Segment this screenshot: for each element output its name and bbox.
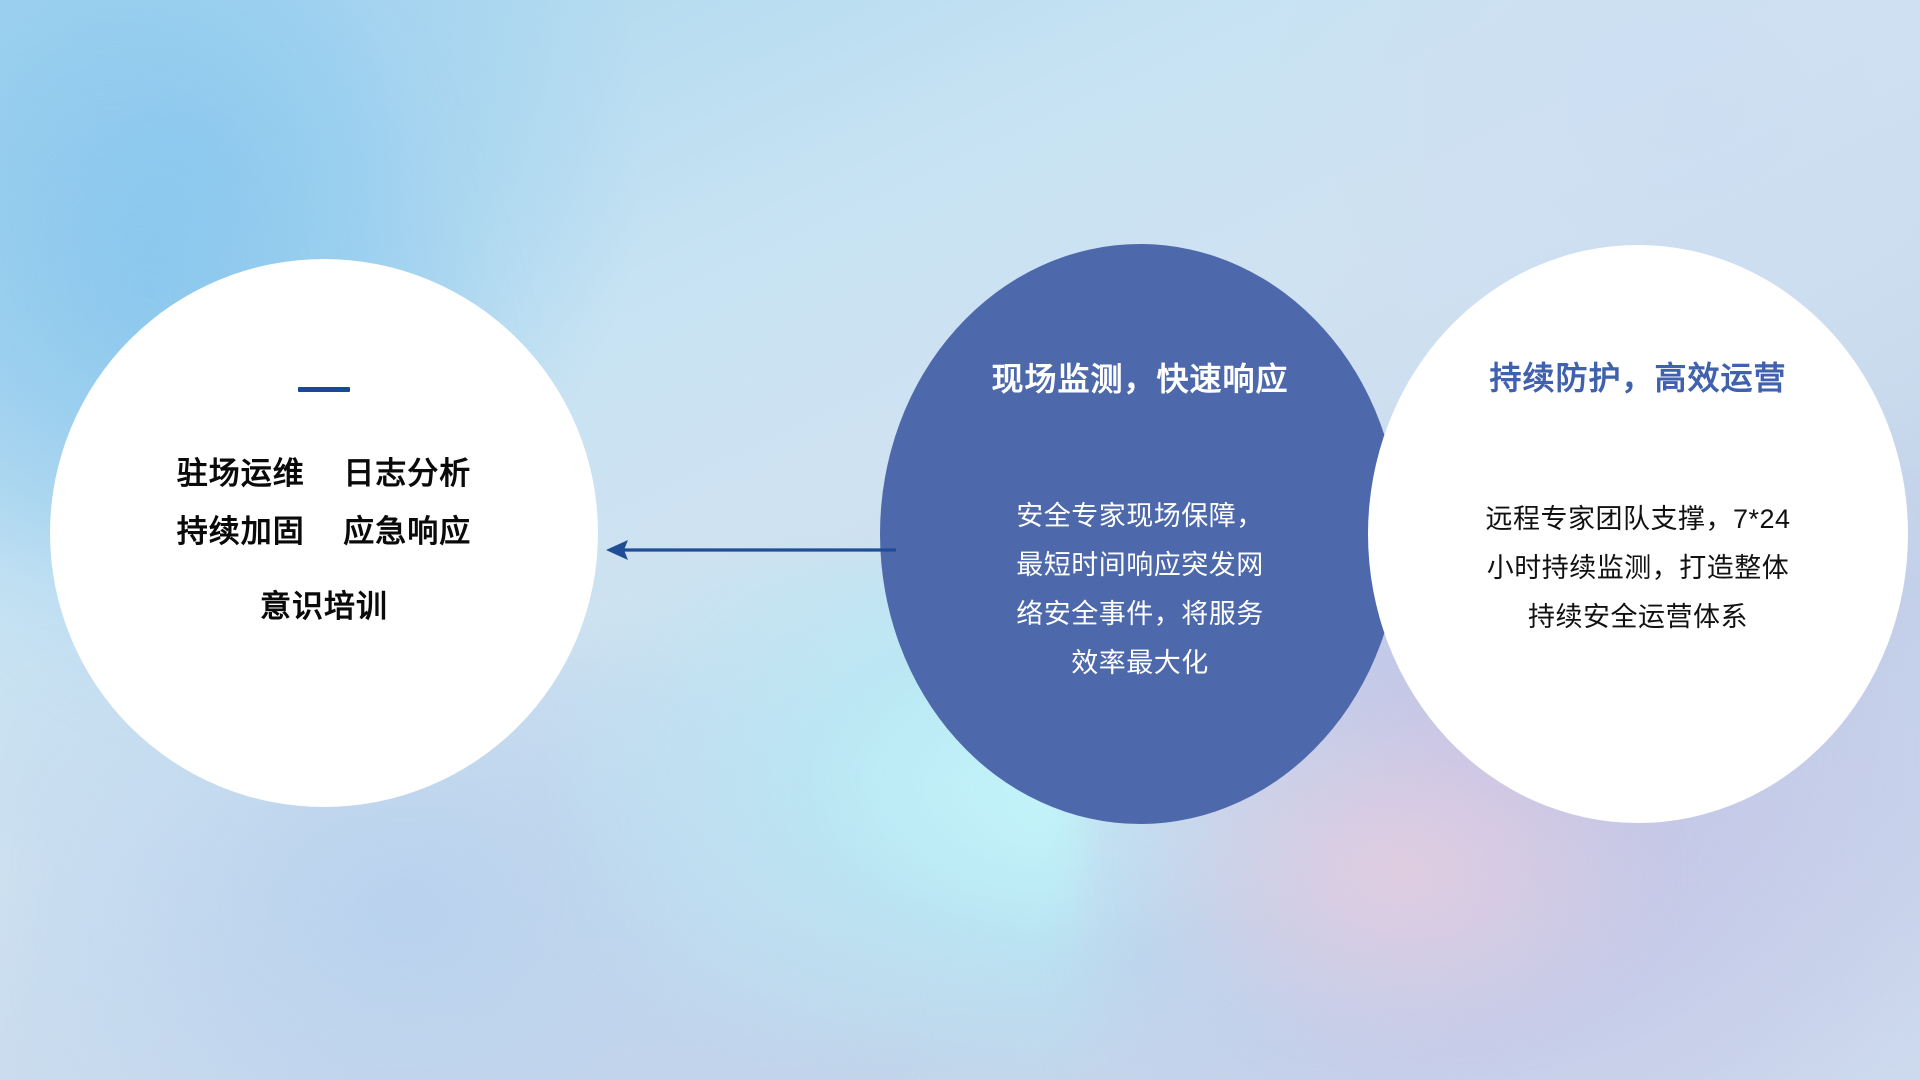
right-circle-body: 远程专家团队支撑，7*24 小时持续监测，打造整体 持续安全运营体系 — [1398, 495, 1878, 642]
right-circle-title: 持续防护，高效运营 — [1368, 353, 1908, 399]
left-circle-capability-list: 驻场运维 日志分析 持续加固 应急响应 意识培训 — [50, 445, 598, 636]
mid-body-line-4: 效率最大化 — [920, 639, 1360, 688]
right-body-line-3: 持续安全运营体系 — [1398, 593, 1878, 642]
left-capability-line-2: 持续加固 应急响应 — [50, 503, 598, 561]
left-circle-content: 驻场运维 日志分析 持续加固 应急响应 意识培训 — [50, 259, 598, 807]
left-circle-divider — [298, 387, 350, 392]
left-capability-line-1: 驻场运维 日志分析 — [50, 445, 598, 503]
mid-body-line-3: 络安全事件，将服务 — [920, 590, 1360, 639]
right-circle-content: 持续防护，高效运营 远程专家团队支撑，7*24 小时持续监测，打造整体 持续安全… — [1368, 245, 1908, 823]
mid-circle-title: 现场监测，快速响应 — [880, 354, 1400, 400]
mid-body-line-2: 最短时间响应突发网 — [920, 541, 1360, 590]
connector-arrow — [600, 520, 900, 580]
right-body-line-2: 小时持续监测，打造整体 — [1398, 544, 1878, 593]
left-capability-line-3: 意识培训 — [50, 578, 598, 636]
mid-circle-body: 安全专家现场保障， 最短时间响应突发网 络安全事件，将服务 效率最大化 — [920, 492, 1360, 688]
right-body-line-1: 远程专家团队支撑，7*24 — [1398, 495, 1878, 544]
mid-body-line-1: 安全专家现场保障， — [920, 492, 1360, 541]
slide-canvas: 驻场运维 日志分析 持续加固 应急响应 意识培训 现场监测，快速响应 安全专家现… — [0, 0, 1920, 1080]
mid-circle-content: 现场监测，快速响应 安全专家现场保障， 最短时间响应突发网 络安全事件，将服务 … — [880, 244, 1400, 824]
